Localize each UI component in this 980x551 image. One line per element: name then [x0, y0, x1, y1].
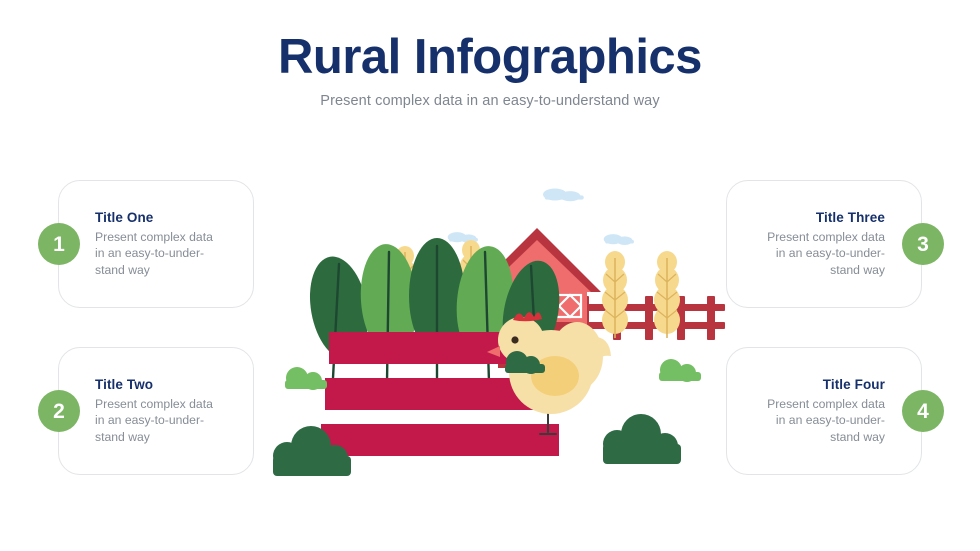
info-card-4[interactable]: Title Four Present complex data in an ea…: [726, 347, 922, 475]
card-badge-2[interactable]: 2: [38, 390, 80, 432]
card-body-4: Present complex data in an easy-to-under…: [741, 396, 885, 445]
page-subtitle: Present complex data in an easy-to-under…: [0, 93, 980, 109]
card-body-1: Present complex data in an easy-to-under…: [95, 229, 239, 278]
card-body-2: Present complex data in an easy-to-under…: [95, 396, 239, 445]
card-title-2: Title Two: [95, 377, 239, 392]
card-badge-3[interactable]: 3: [902, 223, 944, 265]
card-title-3: Title Three: [741, 210, 885, 225]
bushes: [273, 351, 701, 476]
card-badge-1[interactable]: 1: [38, 223, 80, 265]
info-card-1[interactable]: Title One Present complex data in an eas…: [58, 180, 254, 308]
farm-scene-illustration: [255, 160, 725, 490]
page-title: Rural Infographics: [0, 32, 980, 84]
slide-canvas: Rural Infographics Present complex data …: [0, 0, 980, 551]
info-card-2[interactable]: Title Two Present complex data in an eas…: [58, 347, 254, 475]
card-title-4: Title Four: [741, 377, 885, 392]
info-card-3[interactable]: Title Three Present complex data in an e…: [726, 180, 922, 308]
card-body-3: Present complex data in an easy-to-under…: [741, 229, 885, 278]
card-title-1: Title One: [95, 210, 239, 225]
card-badge-4[interactable]: 4: [902, 390, 944, 432]
chicken: [487, 312, 611, 434]
header: Rural Infographics Present complex data …: [0, 32, 980, 109]
